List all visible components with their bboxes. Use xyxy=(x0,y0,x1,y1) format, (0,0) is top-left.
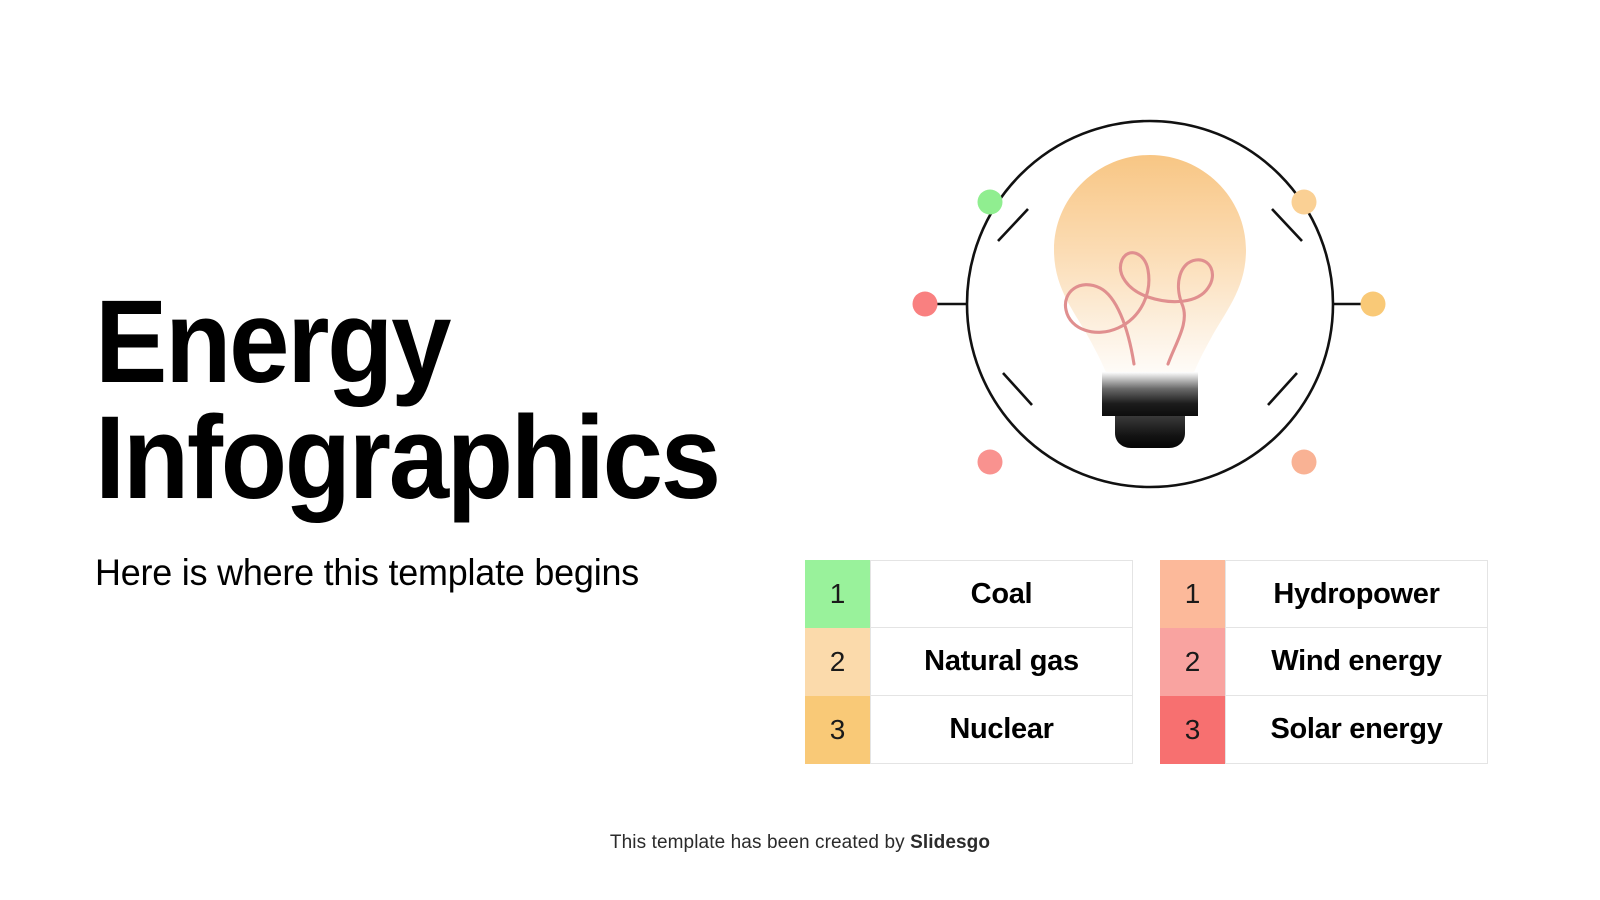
footer-text: This template has been created by xyxy=(610,832,910,853)
row-label-cell: Wind energy xyxy=(1225,628,1488,696)
table-row[interactable]: 2 Natural gas xyxy=(805,628,1133,696)
title-block: Energy Infographics xyxy=(95,285,855,516)
row-number-cell: 3 xyxy=(805,696,870,764)
slide-canvas: Energy Infographics Here is where this t… xyxy=(0,0,1600,900)
bulb-glass xyxy=(1054,155,1246,386)
row-label-cell: Solar energy xyxy=(1225,696,1488,764)
bulb-base-upper xyxy=(1102,372,1198,416)
node-top-right-dot xyxy=(1292,190,1317,215)
renewable-energy-table: 1 Hydropower 2 Wind energy 3 Solar energ… xyxy=(1160,560,1488,764)
row-label-cell: Coal xyxy=(870,560,1133,628)
non-renewable-energy-table: 1 Coal 2 Natural gas 3 Nuclear xyxy=(805,560,1133,764)
lightbulb-illustration xyxy=(880,90,1420,500)
node-top-left-dot xyxy=(978,190,1003,215)
node-bottom-right-dot xyxy=(1292,450,1317,475)
table-row[interactable]: 1 Hydropower xyxy=(1160,560,1488,628)
footer-brand: Slidesgo xyxy=(910,832,990,853)
row-number-cell: 1 xyxy=(1160,560,1225,628)
node-middle-left-dot xyxy=(913,292,938,317)
table-row[interactable]: 2 Wind energy xyxy=(1160,628,1488,696)
row-label-cell: Natural gas xyxy=(870,628,1133,696)
node-middle-right-dot xyxy=(1361,292,1386,317)
page-subtitle: Here is where this template begins xyxy=(95,552,639,594)
row-number-cell: 1 xyxy=(805,560,870,628)
bulb-base-lower xyxy=(1115,416,1185,448)
table-row[interactable]: 3 Nuclear xyxy=(805,696,1133,764)
footer-credit: This template has been created by Slides… xyxy=(0,832,1600,854)
row-number-cell: 2 xyxy=(1160,628,1225,696)
row-number-cell: 2 xyxy=(805,628,870,696)
row-number-cell: 3 xyxy=(1160,696,1225,764)
page-title: Energy Infographics xyxy=(95,285,794,516)
node-bottom-left-dot xyxy=(978,450,1003,475)
row-label-cell: Nuclear xyxy=(870,696,1133,764)
table-row[interactable]: 3 Solar energy xyxy=(1160,696,1488,764)
table-row[interactable]: 1 Coal xyxy=(805,560,1133,628)
row-label-cell: Hydropower xyxy=(1225,560,1488,628)
